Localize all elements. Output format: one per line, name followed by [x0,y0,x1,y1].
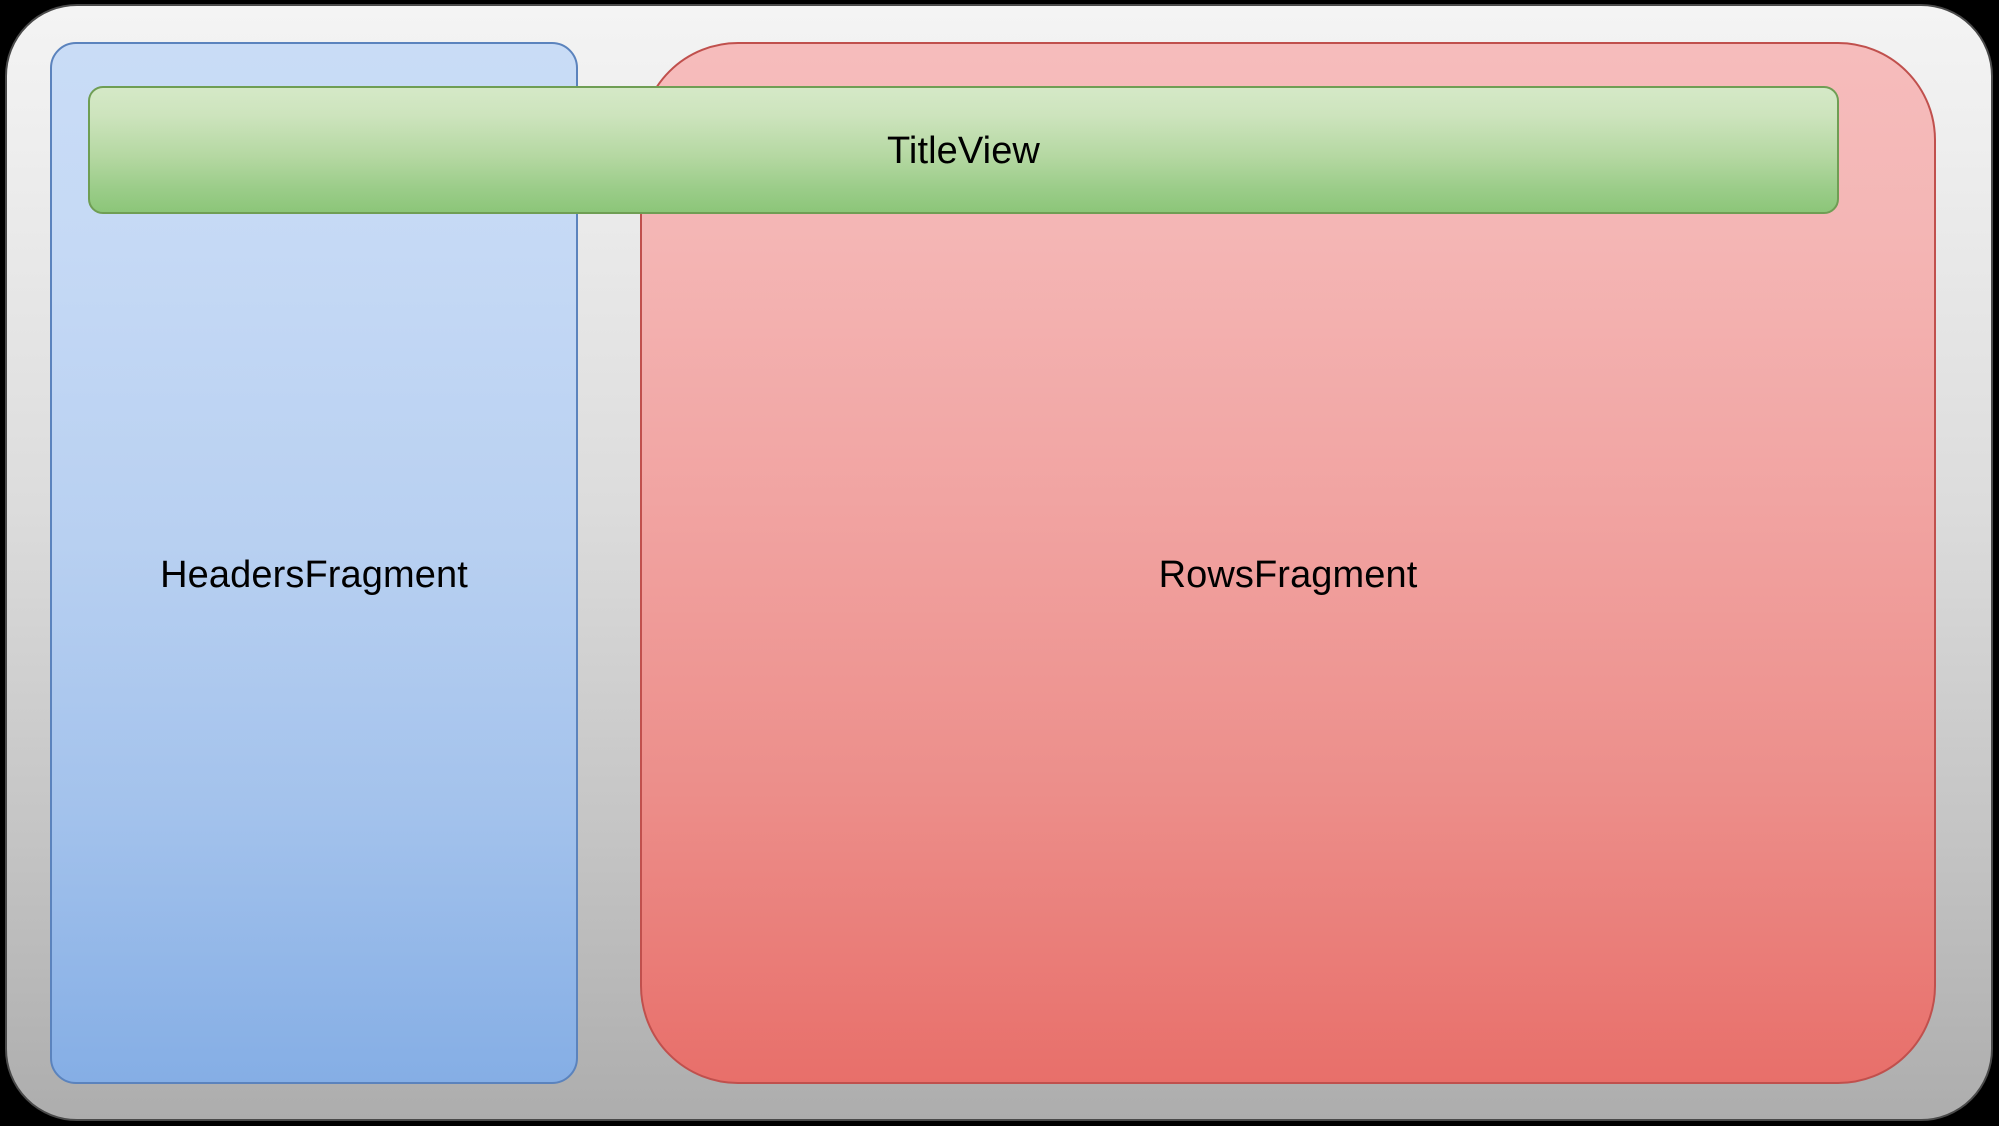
diagram-canvas: HeadersFragment RowsFragment TitleView [0,0,1999,1126]
headers-fragment-label: HeadersFragment [160,556,468,594]
rows-fragment-label: RowsFragment [1159,556,1418,594]
title-view-label: TitleView [887,132,1040,170]
title-view-block[interactable]: TitleView [88,86,1839,214]
